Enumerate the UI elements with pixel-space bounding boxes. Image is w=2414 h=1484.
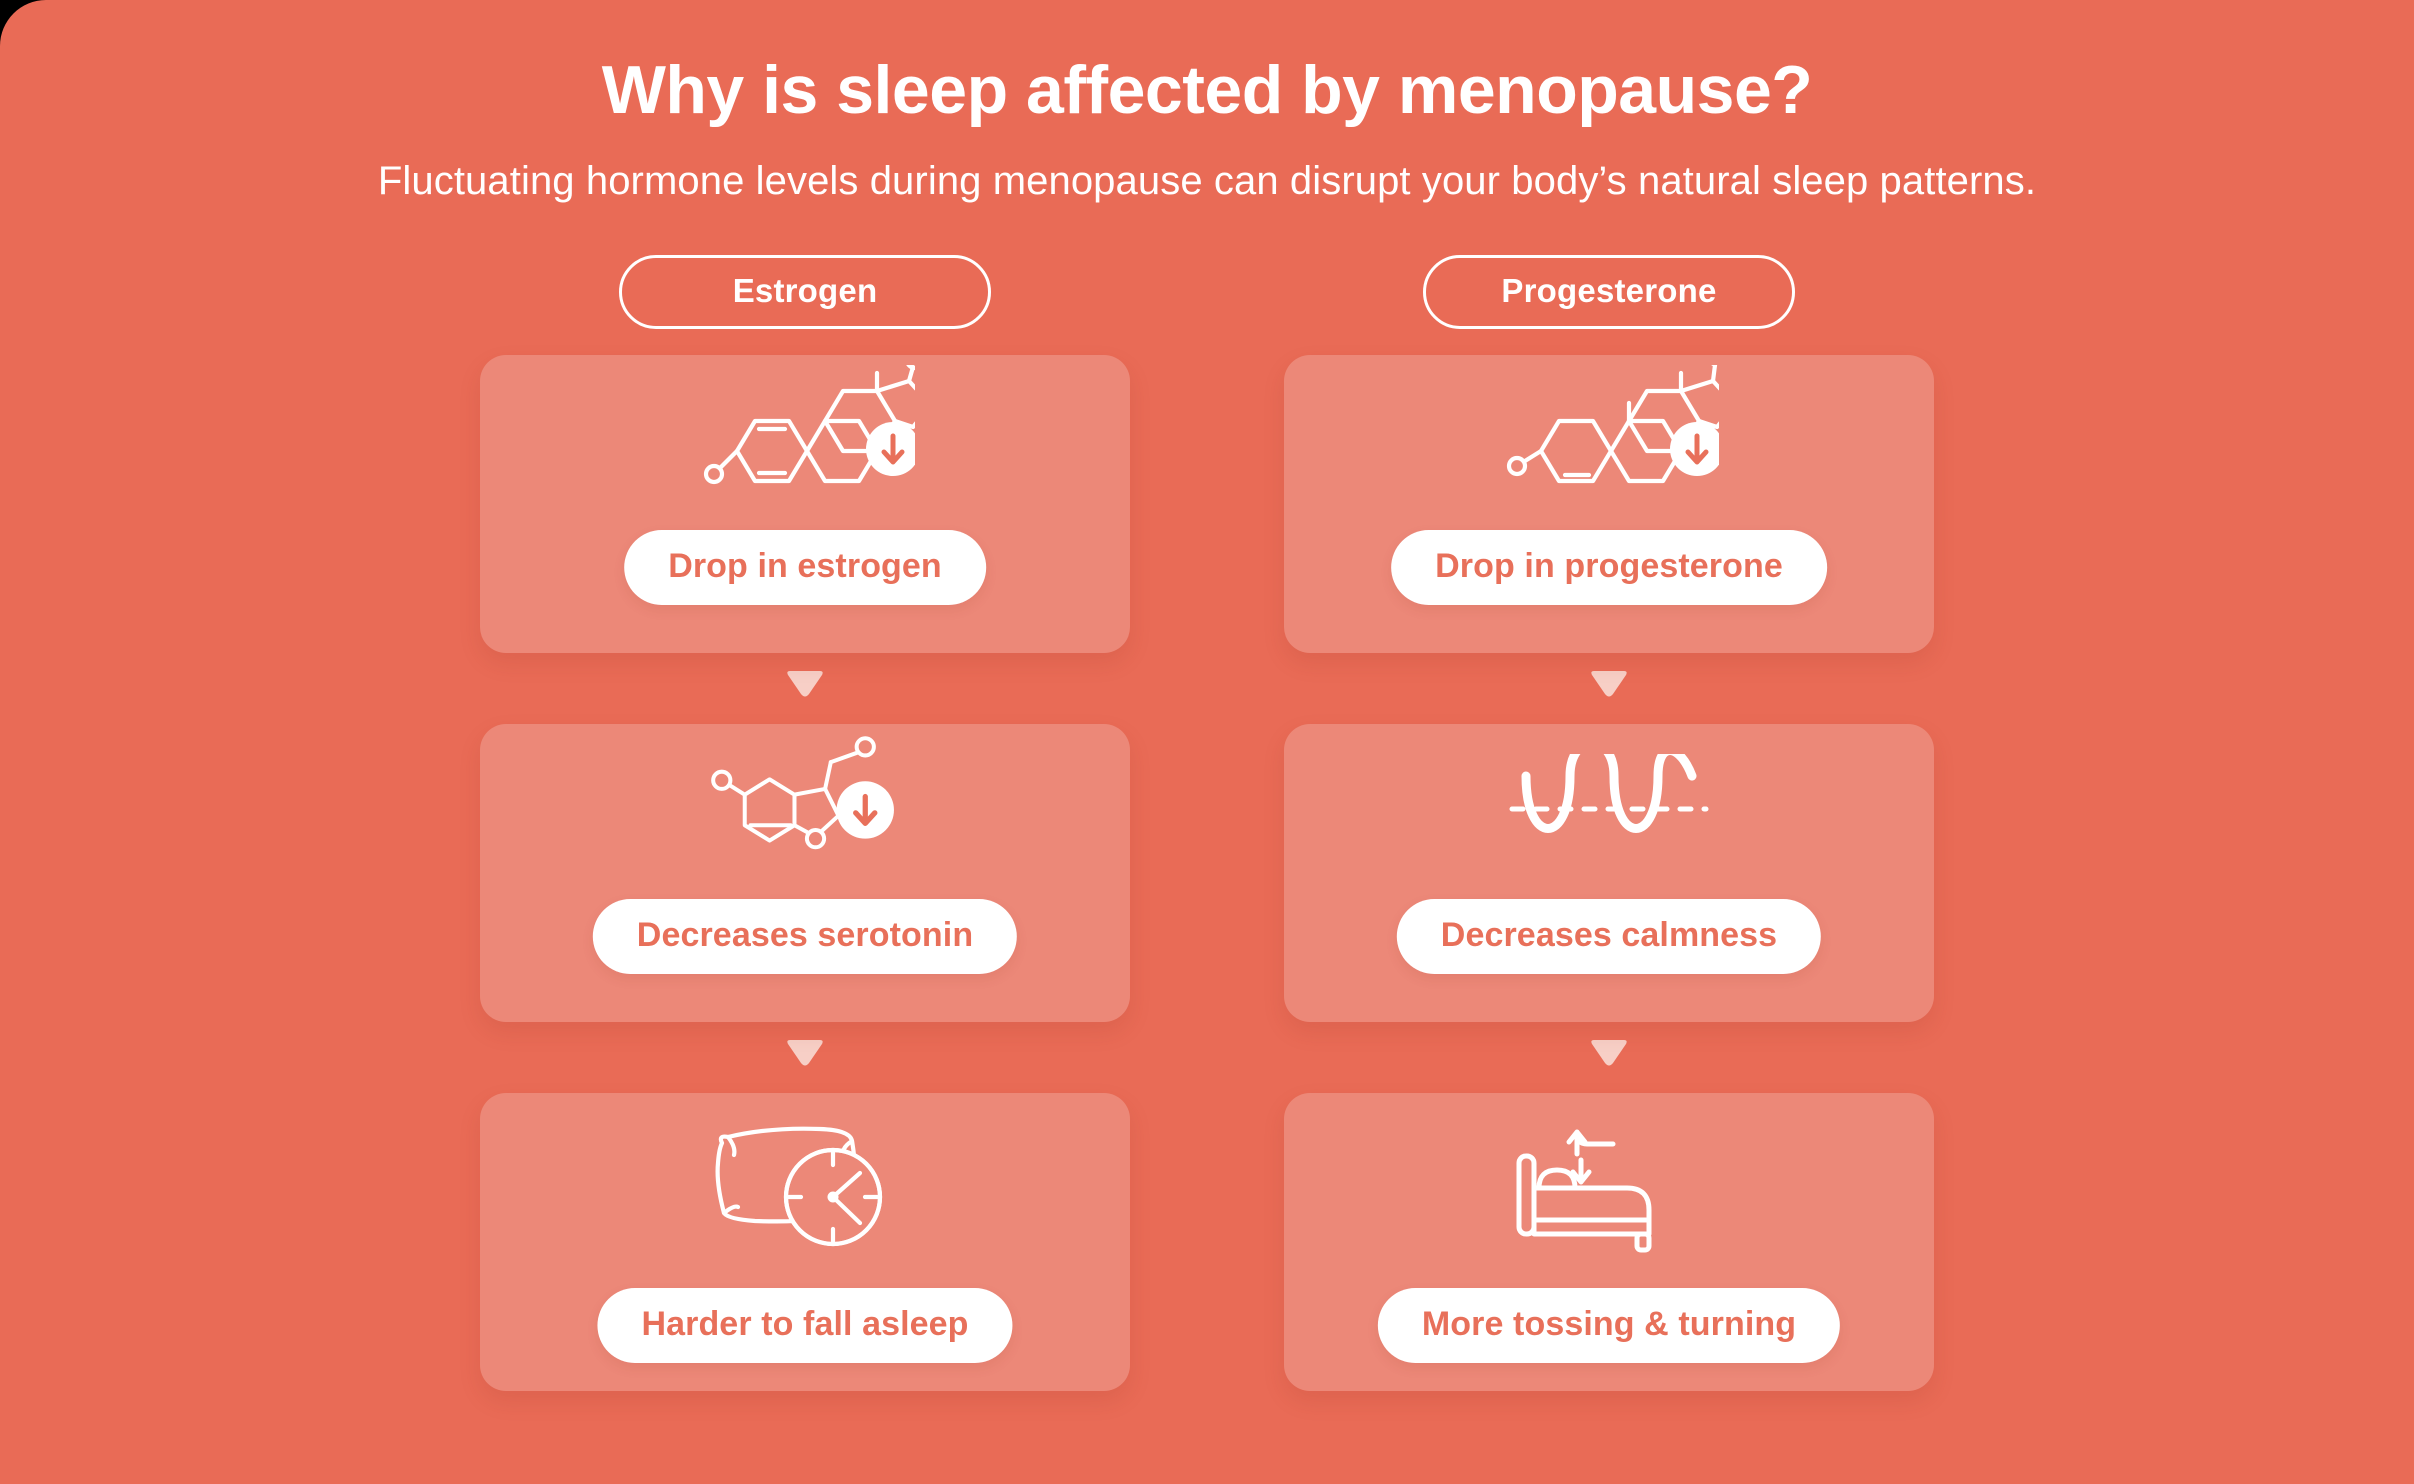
- card-drop-in-estrogen[interactable]: Drop in estrogen: [480, 355, 1130, 653]
- page-title: Why is sleep affected by menopause?: [0, 52, 2414, 128]
- hormone-columns: Estrogen: [0, 255, 2414, 1391]
- progesterone-molecule-down-arrow-icon: [1499, 359, 1719, 521]
- card-decreases-serotonin[interactable]: Decreases serotonin: [480, 724, 1130, 1022]
- arrow-down-connector: [783, 1022, 827, 1067]
- column-estrogen: Estrogen: [480, 255, 1130, 1391]
- card-label-drop-in-estrogen[interactable]: Drop in estrogen: [624, 530, 986, 605]
- page-subtitle: Fluctuating hormone levels during menopa…: [0, 157, 2414, 205]
- card-more-tossing-and-turning[interactable]: More tossing & turning: [1284, 1093, 1934, 1391]
- hormone-badge-progesterone[interactable]: Progesterone: [1423, 255, 1795, 329]
- bed-up-down-arrows-icon: [1509, 1109, 1709, 1271]
- wave-dashed-baseline-icon: [1504, 728, 1714, 890]
- infographic-canvas: Why is sleep affected by menopause? Fluc…: [0, 0, 2414, 1484]
- column-progesterone: Progesterone: [1284, 255, 1934, 1391]
- arrow-down-connector: [1587, 653, 1631, 698]
- card-decreases-calmness[interactable]: Decreases calmness: [1284, 724, 1934, 1022]
- serotonin-molecule-down-arrow-icon: [695, 728, 915, 890]
- estrogen-molecule-down-arrow-icon: [695, 359, 915, 521]
- card-label-decreases-serotonin[interactable]: Decreases serotonin: [593, 899, 1017, 974]
- header: Why is sleep affected by menopause? Fluc…: [0, 0, 2414, 205]
- card-drop-in-progesterone[interactable]: Drop in progesterone: [1284, 355, 1934, 653]
- card-label-decreases-calmness[interactable]: Decreases calmness: [1397, 899, 1821, 974]
- card-label-drop-in-progesterone[interactable]: Drop in progesterone: [1391, 530, 1827, 605]
- hormone-badge-estrogen[interactable]: Estrogen: [619, 255, 991, 329]
- card-label-more-tossing-and-turning[interactable]: More tossing & turning: [1378, 1288, 1840, 1363]
- card-harder-to-fall-asleep[interactable]: Harder to fall asleep: [480, 1093, 1130, 1391]
- card-label-harder-to-fall-asleep[interactable]: Harder to fall asleep: [597, 1288, 1012, 1363]
- pillow-clock-icon: [700, 1109, 910, 1271]
- arrow-down-connector: [783, 653, 827, 698]
- arrow-down-connector: [1587, 1022, 1631, 1067]
